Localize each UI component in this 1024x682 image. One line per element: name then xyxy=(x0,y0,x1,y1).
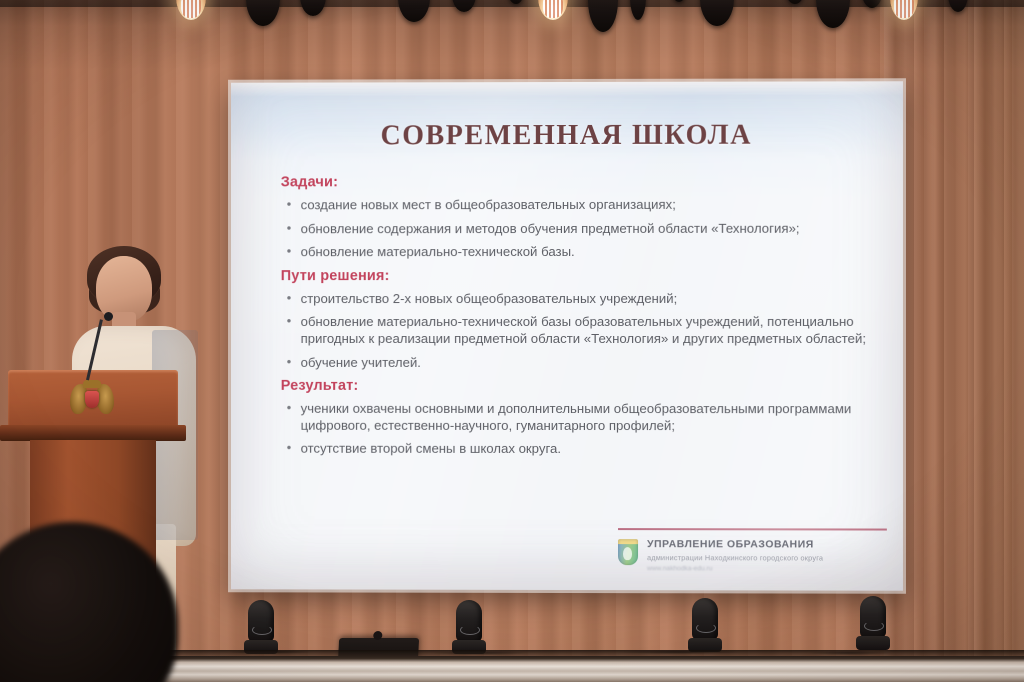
truss-bar xyxy=(0,0,1024,7)
floor-light-base xyxy=(856,636,890,650)
list-item: ученики охвачены основными и дополнитель… xyxy=(287,401,869,435)
stage-light-9 xyxy=(630,0,646,20)
stage-light-4 xyxy=(398,0,430,22)
footer-text-block: УПРАВЛЕНИЕ ОБРАЗОВАНИЯ администрации Нах… xyxy=(647,539,823,572)
list-item: обновление содержания и методов обучения… xyxy=(287,220,869,237)
list-item: обновление материально-технической базы. xyxy=(287,244,869,261)
stage-light-15 xyxy=(890,0,918,20)
stage-light-12 xyxy=(786,0,804,4)
section-heading-rezultat: Результат: xyxy=(281,378,869,394)
stage-light-7 xyxy=(538,0,568,20)
lighting-truss xyxy=(0,0,1024,40)
footer-row: УПРАВЛЕНИЕ ОБРАЗОВАНИЯ администрации Нах… xyxy=(618,539,887,573)
projection-screen: СОВРЕМЕННАЯ ШКОЛА Задачи: создание новых… xyxy=(231,81,903,590)
section-heading-puti-resheniya: Пути решения: xyxy=(281,268,869,284)
coat-of-arms-icon xyxy=(618,539,638,565)
stage-light-6 xyxy=(508,0,524,4)
eagle-wing-right xyxy=(97,384,114,414)
stage-light-13 xyxy=(816,0,850,28)
stage-light-5 xyxy=(452,0,476,12)
list-item: создание новых мест в общеобразовательны… xyxy=(287,197,869,214)
slide-footer: УПРАВЛЕНИЕ ОБРАЗОВАНИЯ администрации Нах… xyxy=(618,528,887,572)
floor-light-2 xyxy=(452,600,486,656)
floor-light-4 xyxy=(856,596,890,652)
floor-light-1 xyxy=(244,600,278,656)
curtain-pleats-right xyxy=(884,0,1024,682)
list-item: обучение учителей. xyxy=(287,355,869,372)
microphone-icon xyxy=(104,312,113,321)
footer-subtitle: администрации Находкинского городского о… xyxy=(647,553,823,562)
podium-front-panel xyxy=(8,370,178,428)
list-item: обновление материально-технической базы … xyxy=(287,314,869,347)
stage-light-10 xyxy=(672,0,686,2)
stage-light-1 xyxy=(176,0,206,20)
eagle-shield xyxy=(85,391,99,408)
stage-light-8 xyxy=(588,0,618,32)
footer-organization: УПРАВЛЕНИЕ ОБРАЗОВАНИЯ xyxy=(647,539,823,550)
stage-light-3 xyxy=(300,0,326,16)
list-item: отсутствие второй смены в школах округа. xyxy=(287,441,869,458)
footer-divider xyxy=(618,528,887,530)
floor-light-head xyxy=(860,596,886,638)
bullet-list-zadachi: создание новых мест в общеобразовательны… xyxy=(287,197,869,261)
slide-title: СОВРЕМЕННАЯ ШКОЛА xyxy=(265,119,869,152)
stage-scene: СОВРЕМЕННАЯ ШКОЛА Задачи: создание новых… xyxy=(0,0,1024,682)
stage-light-2 xyxy=(246,0,280,26)
floor-light-head xyxy=(692,598,718,640)
bullet-list-rezultat: ученики охвачены основными и дополнитель… xyxy=(287,401,869,458)
floor-light-head xyxy=(456,600,482,642)
stage-light-11 xyxy=(700,0,734,26)
presentation-slide: СОВРЕМЕННАЯ ШКОЛА Задачи: создание новых… xyxy=(231,81,903,590)
eagle-crown xyxy=(83,380,101,388)
list-item: строительство 2-х новых общеобразователь… xyxy=(287,291,869,308)
footer-url: www.nakhodka-edu.ru xyxy=(647,565,823,572)
russian-coat-of-arms-icon xyxy=(70,380,114,418)
section-heading-zadachi: Задачи: xyxy=(281,174,869,191)
floor-light-head xyxy=(248,600,274,642)
stage-light-14 xyxy=(862,0,882,8)
bullet-list-puti-resheniya: строительство 2-х новых общеобразователь… xyxy=(287,291,869,372)
floor-light-3 xyxy=(688,598,722,654)
podium-ledge xyxy=(0,425,186,441)
stage-light-16 xyxy=(948,0,968,12)
